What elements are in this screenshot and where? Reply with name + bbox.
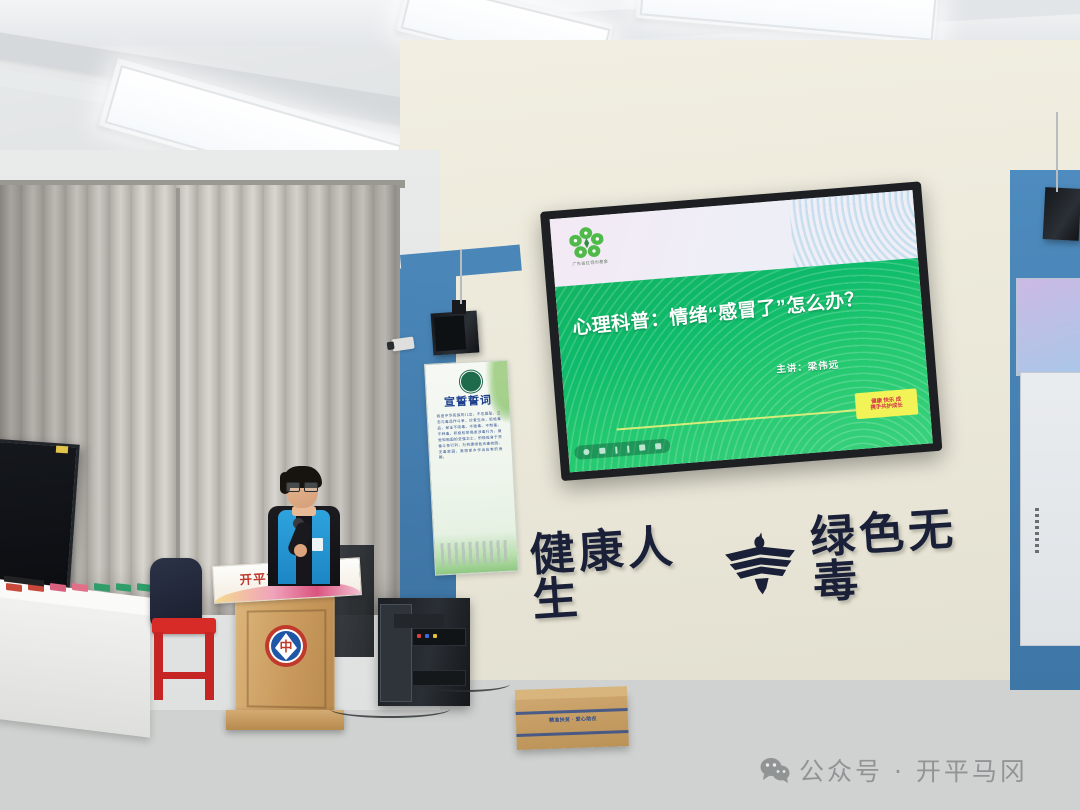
vest-badge (312, 538, 323, 551)
city-skyline-decoration (434, 530, 518, 574)
highlighter-icon[interactable] (599, 448, 605, 454)
oath-poster-body: 我是中华民族的儿女，不忘国耻，立志与毒品作斗争，珍爱生命，拒绝毒品，保证不吸毒、… (437, 411, 503, 462)
box-lid (515, 686, 627, 700)
stool-stretcher (154, 672, 214, 679)
amplifier-unit[interactable] (412, 628, 466, 646)
tv-sticker (56, 446, 68, 454)
slide-corner-badge: 健康 快乐 成 携手共护成长 (855, 388, 919, 419)
anti-drug-seal-icon (459, 370, 482, 393)
screen-display-area[interactable]: 广东省红领巾基金 心理科普：情绪“感冒了”怎么办？ 主讲：梁伟远 健康 快乐 成… (550, 190, 933, 472)
stool-leg (205, 632, 214, 700)
wechat-icon (760, 757, 790, 783)
watermark-text: 公众号 · 开平马冈 (799, 752, 1028, 788)
oath-poster: 宣誓誓词 我是中华民族的儿女，不忘国耻，立志与毒品作斗争，珍爱生命，拒绝毒品，保… (424, 360, 519, 576)
stool-leg (154, 632, 163, 700)
grid-icon[interactable] (655, 443, 661, 449)
shape-icon[interactable] (639, 444, 645, 450)
speaker-person (256, 466, 352, 586)
wall-slogan-left-text: 健康人生 (528, 522, 712, 623)
person-hand (294, 544, 307, 557)
wall-speaker-left (431, 310, 480, 355)
speaker-wire (460, 250, 462, 304)
status-led-icon (433, 634, 437, 638)
red-plastic-stool (152, 618, 216, 700)
curtain-support-pole (176, 188, 180, 608)
wall-slogan-right-text: 绿色无毒 (809, 504, 993, 605)
podium-base (226, 710, 344, 730)
cardboard-box: 精准扶贫 · 爱心助农 (515, 692, 629, 750)
box-print-text: 精准扶贫 · 爱心助农 (534, 715, 612, 725)
pointer-icon[interactable] (627, 445, 630, 452)
speaker-mount-bracket (452, 300, 466, 314)
pen-icon[interactable] (583, 449, 589, 455)
status-led-icon (425, 634, 429, 638)
right-wall-board-lower (1020, 372, 1080, 646)
svg-text:中: 中 (279, 639, 292, 655)
organization-flower-logo-icon (568, 225, 604, 260)
presentation-screen[interactable]: 广东省红领巾基金 心理科普：情绪“感冒了”怎么办？ 主讲：梁伟远 健康 快乐 成… (540, 181, 942, 481)
photo-scene: 广东省红领巾基金 心理科普：情绪“感冒了”怎么办？ 主讲：梁伟远 健康 快乐 成… (0, 0, 1080, 810)
watermark: 公众号 · 开平马冈 (760, 752, 1028, 788)
school-emblem-icon: 中 (264, 624, 308, 668)
speaker-wire-right (1056, 112, 1058, 192)
board-binding-dots (1035, 508, 1039, 554)
floor-cable (330, 700, 450, 718)
mixer-unit[interactable] (394, 614, 444, 628)
floor-cable (420, 676, 510, 692)
box-print-band (516, 730, 628, 737)
right-wall-poster-upper (1016, 278, 1080, 376)
speaker-grille (434, 315, 466, 351)
lectern-podium: 中 开平市第四中学 (228, 580, 342, 750)
slide-badge-line-2: 携手共护成长 (870, 403, 903, 412)
eyeglasses-icon (286, 482, 318, 490)
power-led-icon (417, 634, 421, 638)
eraser-icon[interactable] (615, 446, 618, 453)
anti-drug-eagle-icon (722, 530, 800, 597)
wall-speaker-right (1043, 187, 1080, 241)
